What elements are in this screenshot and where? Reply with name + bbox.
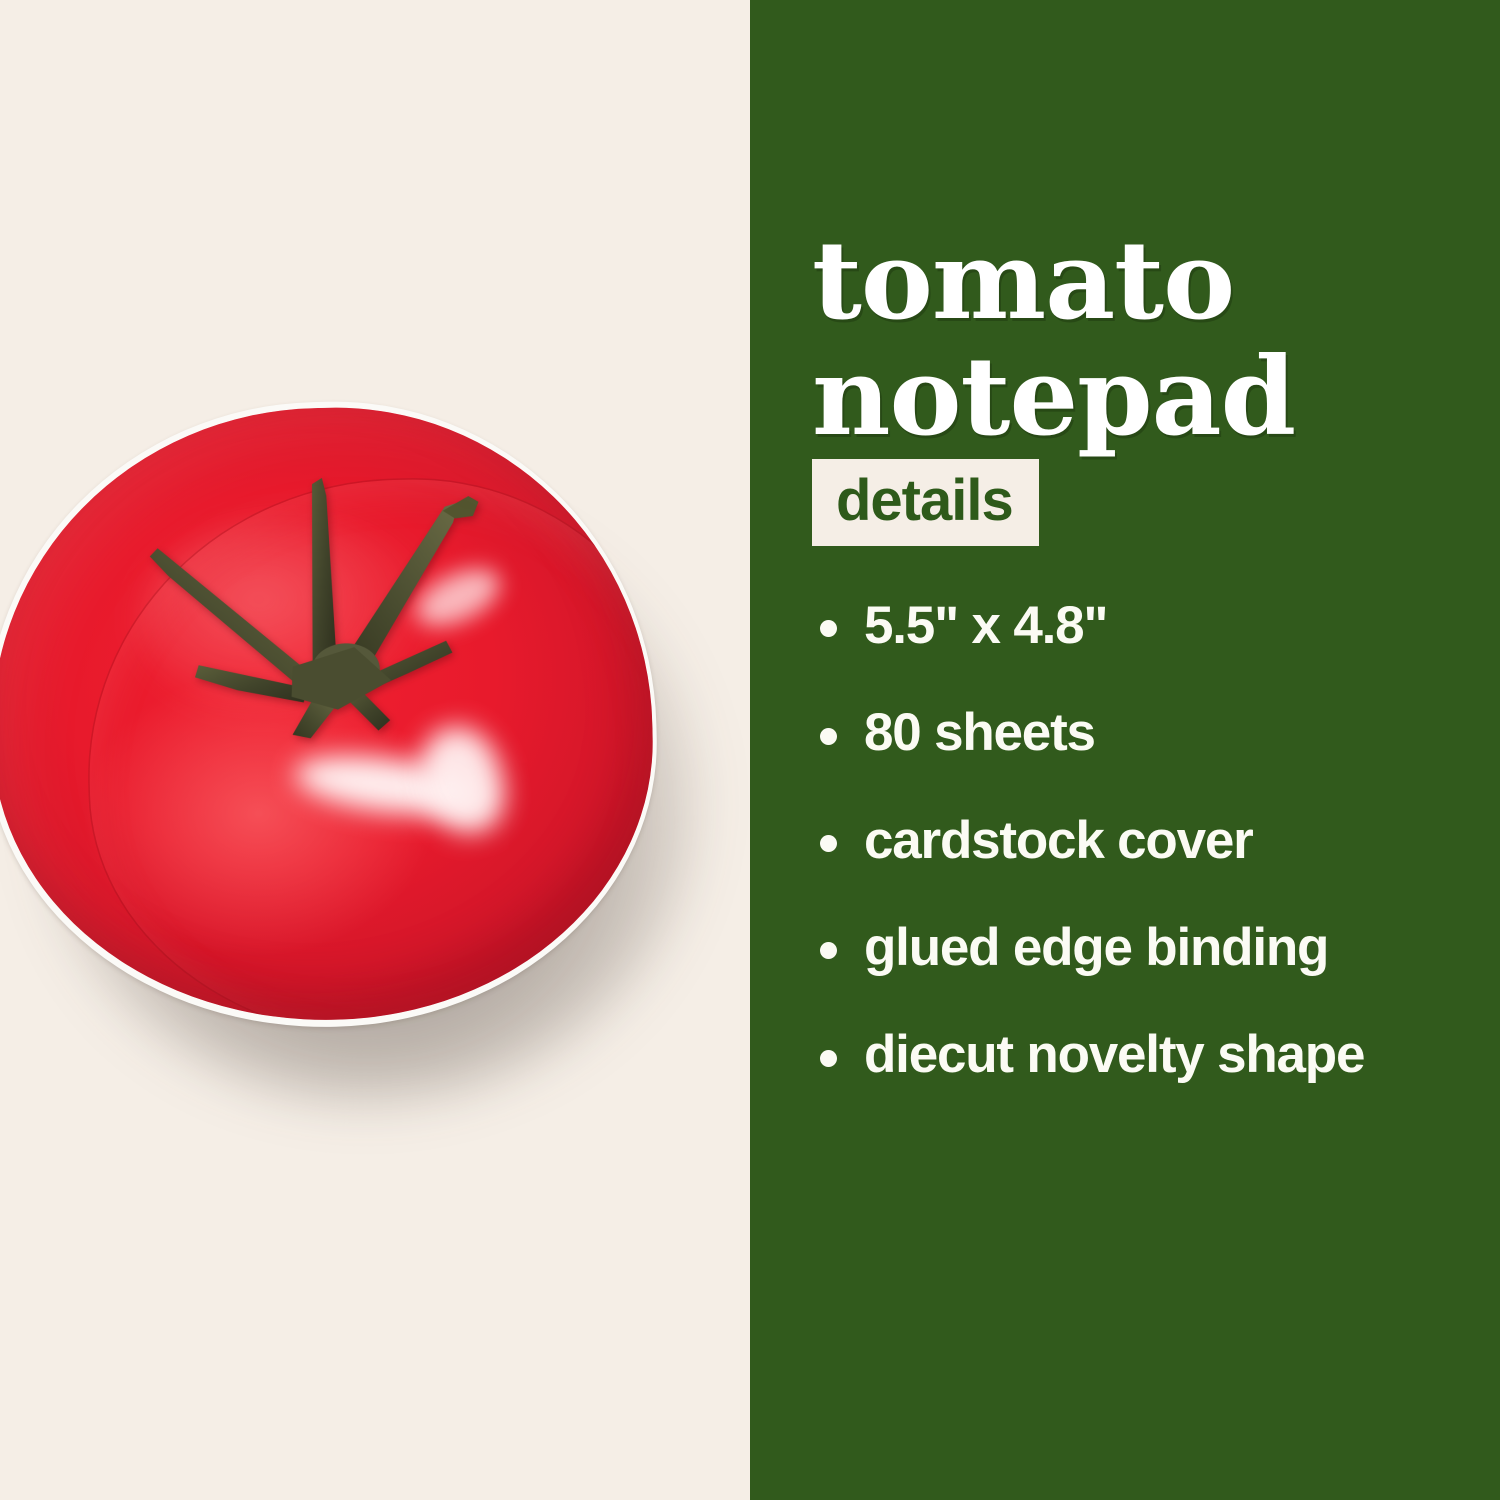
bullet-dot-icon <box>820 620 837 637</box>
product-title: tomato notepad <box>812 224 1492 455</box>
specular-highlight-hook <box>410 718 514 843</box>
list-item-label: diecut novelty shape <box>864 1025 1364 1084</box>
tomato-sheen <box>137 515 442 723</box>
details-info-panel: tomato notepad details 5.5" x 4.8" 80 sh… <box>750 0 1500 1500</box>
list-item: glued edge binding <box>808 918 1488 977</box>
tomato-notepad-product <box>0 380 750 1120</box>
list-item: 5.5" x 4.8" <box>808 596 1488 655</box>
tomato-stem-calyx <box>135 443 502 742</box>
details-badge: details <box>812 459 1039 546</box>
product-title-line-1: tomato <box>812 224 1492 340</box>
list-item-label: 5.5" x 4.8" <box>864 596 1107 655</box>
specular-highlight-main <box>291 746 481 824</box>
notepad-cardstock-cover <box>0 399 660 1028</box>
list-item-label: glued edge binding <box>864 918 1328 977</box>
bullet-dot-icon <box>820 835 837 852</box>
list-item-label: cardstock cover <box>864 811 1253 870</box>
list-item: diecut novelty shape <box>808 1025 1488 1084</box>
bullet-dot-icon <box>820 1050 837 1067</box>
product-listing-image: tomato notepad details 5.5" x 4.8" 80 sh… <box>0 0 1500 1500</box>
specular-highlight-small <box>407 557 508 637</box>
list-item: 80 sheets <box>808 703 1488 762</box>
list-item-label: 80 sheets <box>864 703 1095 762</box>
bullet-dot-icon <box>820 942 837 959</box>
product-photo-panel <box>0 0 750 1500</box>
bullet-dot-icon <box>820 728 837 745</box>
product-title-line-2: notepad <box>812 340 1492 456</box>
list-item: cardstock cover <box>808 811 1488 870</box>
details-bullet-list: 5.5" x 4.8" 80 sheets cardstock cover gl… <box>808 596 1488 1085</box>
